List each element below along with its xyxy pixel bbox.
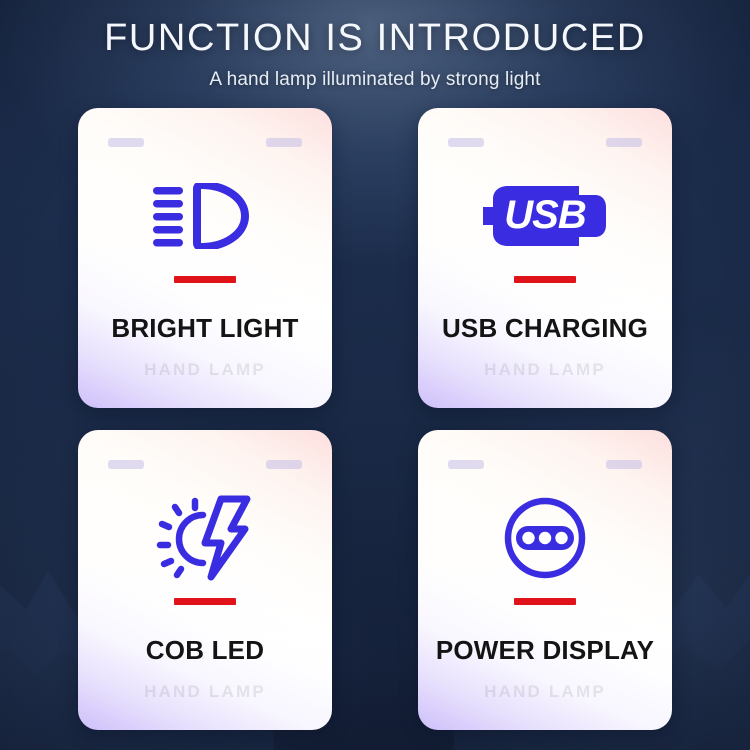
- card-accent-rule: [514, 598, 576, 605]
- page-subtitle: A hand lamp illuminated by strong light: [0, 69, 750, 91]
- promo-graphic: FUNCTION IS INTRODUCED A hand lamp illum…: [0, 0, 750, 750]
- usb-plug-icon: USB: [418, 164, 672, 268]
- card-tab-left: [448, 460, 484, 469]
- card-title: USB CHARGING: [418, 313, 672, 344]
- card-tab-right: [606, 460, 642, 469]
- sun-lightning-icon: [78, 486, 332, 590]
- headlight-icon: [78, 164, 332, 268]
- feature-card-bright-light[interactable]: BRIGHT LIGHT HAND LAMP: [78, 108, 332, 408]
- card-tab-right: [606, 138, 642, 147]
- card-tab-left: [108, 460, 144, 469]
- card-tab-left: [108, 138, 144, 147]
- svg-text:USB: USB: [504, 193, 586, 237]
- card-title: POWER DISPLAY: [418, 635, 672, 666]
- card-accent-rule: [174, 598, 236, 605]
- card-title: COB LED: [78, 635, 332, 666]
- card-tab-right: [266, 138, 302, 147]
- card-watermark: HAND LAMP: [418, 360, 672, 380]
- header: FUNCTION IS INTRODUCED A hand lamp illum…: [0, 18, 750, 91]
- feature-card-usb-charging[interactable]: USB USB CHARGING HAND LAMP: [418, 108, 672, 408]
- card-accent-rule: [514, 276, 576, 283]
- card-watermark: HAND LAMP: [418, 682, 672, 702]
- page-title: FUNCTION IS INTRODUCED: [0, 18, 750, 60]
- card-accent-rule: [174, 276, 236, 283]
- feature-card-cob-led[interactable]: COB LED HAND LAMP: [78, 430, 332, 730]
- feature-card-power-display[interactable]: POWER DISPLAY HAND LAMP: [418, 430, 672, 730]
- card-tab-left: [448, 138, 484, 147]
- card-watermark: HAND LAMP: [78, 682, 332, 702]
- card-tab-right: [266, 460, 302, 469]
- feature-card-grid: BRIGHT LIGHT HAND LAMP USB USB CHARGING …: [78, 108, 672, 730]
- card-watermark: HAND LAMP: [78, 360, 332, 380]
- battery-level-icon: [418, 486, 672, 590]
- card-title: BRIGHT LIGHT: [78, 313, 332, 344]
